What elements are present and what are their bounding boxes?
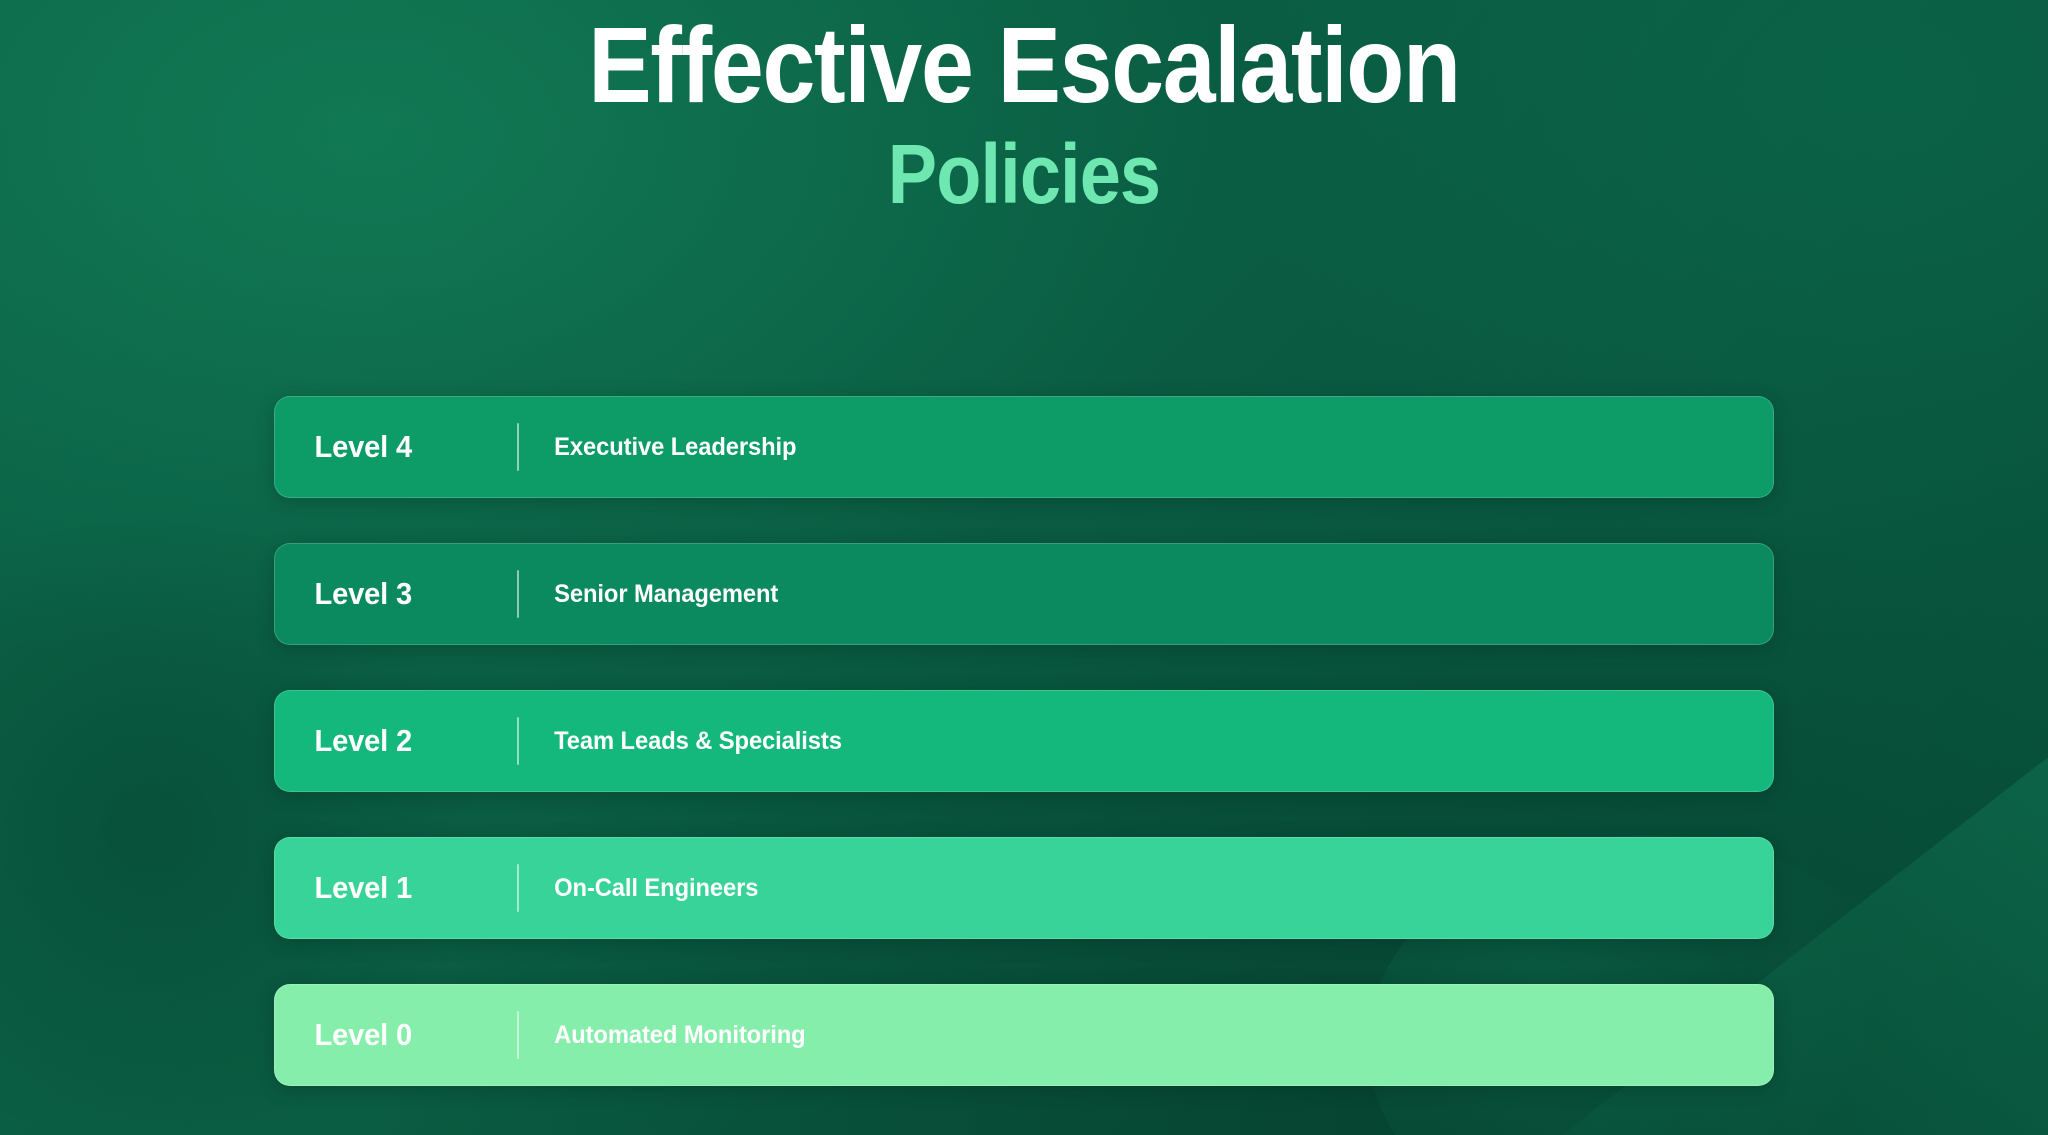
level-label: Level 2 — [275, 723, 502, 759]
title-line-primary: Effective Escalation — [123, 6, 1925, 124]
level-row-0[interactable]: Level 0 Automated Monitoring — [274, 984, 1774, 1086]
level-row-4[interactable]: Level 4 Executive Leadership — [274, 396, 1774, 498]
level-row-2[interactable]: Level 2 Team Leads & Specialists — [274, 690, 1774, 792]
level-description: Senior Management — [519, 580, 778, 609]
escalation-level-list: Level 4 Executive Leadership Level 3 Sen… — [274, 396, 1774, 1086]
title-line-secondary: Policies — [123, 128, 1925, 220]
level-row-1[interactable]: Level 1 On-Call Engineers — [274, 837, 1774, 939]
level-label: Level 1 — [275, 870, 502, 906]
level-description: Automated Monitoring — [519, 1021, 806, 1050]
level-description: Executive Leadership — [519, 433, 796, 462]
level-row-3[interactable]: Level 3 Senior Management — [274, 543, 1774, 645]
level-description: Team Leads & Specialists — [519, 727, 842, 756]
level-label: Level 0 — [275, 1017, 502, 1053]
level-description: On-Call Engineers — [519, 874, 758, 903]
page-title: Effective Escalation Policies — [0, 0, 2048, 220]
slide-content: Effective Escalation Policies Level 4 Ex… — [0, 0, 2048, 1135]
level-label: Level 4 — [275, 429, 502, 465]
level-label: Level 3 — [275, 576, 502, 612]
